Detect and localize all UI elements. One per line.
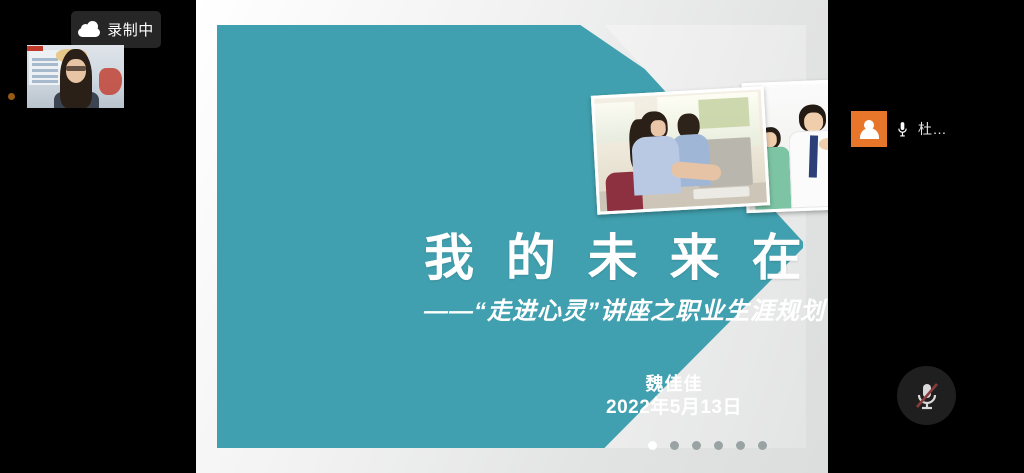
microphone-muted-icon [912,380,942,412]
shared-screen-stage[interactable]: 我 的 未 来 在 哪 儿 ？ ——“走进心灵”讲座之职业生涯规划 魏佳佳 20… [196,0,828,473]
pagination-dot[interactable] [758,441,767,450]
participant-audio-tile[interactable]: 杜… [851,111,1017,147]
avatar [851,111,887,147]
slide-pagination[interactable] [648,441,767,450]
pagination-dot[interactable] [714,441,723,450]
slide-subtitle: ——“走进心灵”讲座之职业生涯规划 [424,291,828,326]
status-indicator-dot [8,93,15,100]
pagination-dot[interactable] [736,441,745,450]
cloud-icon [78,23,100,37]
mute-button[interactable] [897,366,956,425]
pagination-dot[interactable] [692,441,701,450]
pagination-dot[interactable] [648,441,657,450]
recording-label: 录制中 [107,19,154,40]
meeting-screen: 录制中 [0,0,1024,473]
recording-badge[interactable]: 录制中 [71,11,161,48]
microphone-icon [897,121,908,138]
person-icon [858,117,880,141]
slide-title: 我 的 未 来 在 哪 儿 ？ [424,233,828,283]
pagination-dot[interactable] [670,441,679,450]
participant-name: 杜… [918,119,947,139]
photo-students-at-computers [591,86,770,214]
slide-photo-collage [592,78,828,220]
slide-date: 2022年5月13日 [424,392,828,419]
self-video-tile[interactable] [27,45,124,108]
